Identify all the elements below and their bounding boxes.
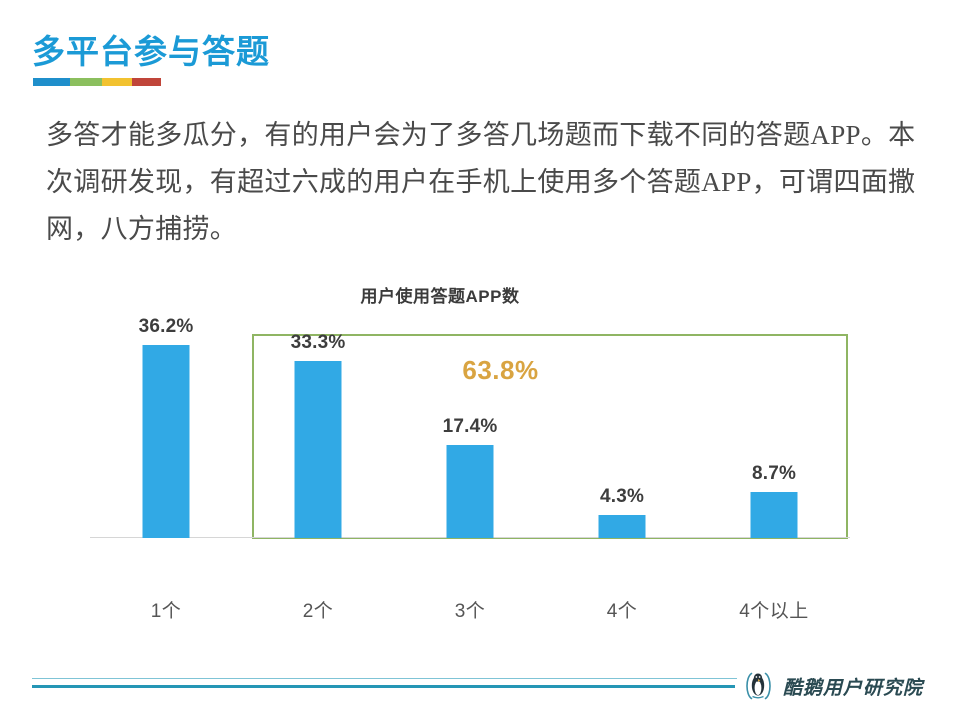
bar-slot: 36.2%	[90, 325, 242, 538]
bar-1个[interactable]	[143, 345, 190, 538]
bar-slot: 33.3%	[242, 325, 394, 538]
bar-value-label: 36.2%	[139, 316, 194, 338]
rule-segment-red	[132, 78, 161, 86]
penguin-logo-icon	[742, 669, 774, 703]
rule-segment-green	[70, 78, 102, 86]
category-label-3个: 3个	[394, 596, 546, 623]
bar-value-label: 8.7%	[752, 463, 796, 485]
title-underline-rule	[33, 78, 161, 86]
bar-value-label: 33.3%	[291, 332, 346, 354]
bar-value-label: 4.3%	[600, 486, 644, 508]
category-labels-row: 1个2个3个4个4个以上	[90, 583, 850, 629]
bar-4个[interactable]	[599, 515, 646, 538]
footer-rule-thin	[32, 678, 737, 679]
category-label-4个: 4个	[546, 596, 698, 623]
category-label-2个: 2个	[242, 596, 394, 623]
category-label-1个: 1个	[90, 596, 242, 623]
rule-segment-blue	[33, 78, 70, 86]
bar-3个[interactable]	[447, 445, 494, 538]
bar-value-label: 17.4%	[443, 416, 498, 438]
chart-title: 用户使用答题APP数	[0, 282, 880, 307]
bar-4个以上[interactable]	[751, 492, 798, 538]
footer-brand: 酷鹅用户研究院	[742, 666, 923, 706]
category-label-4个以上: 4个以上	[698, 596, 850, 623]
brand-name: 酷鹅用户研究院	[783, 673, 923, 700]
bar-chart: 用户使用答题APP数 36.2%33.3%17.4%4.3%8.7% 63.8%…	[0, 270, 960, 640]
body-paragraph: 多答才能多瓜分，有的用户会为了多答几场题而下载不同的答题APP。本次调研发现，有…	[46, 112, 926, 253]
bar-slot: 8.7%	[698, 325, 850, 538]
highlight-annotation-label: 63.8%	[462, 355, 538, 386]
slide-canvas: 多平台参与答题 多答才能多瓜分，有的用户会为了多答几场题而下载不同的答题APP。…	[0, 0, 960, 720]
footer-rule-thick	[32, 685, 735, 688]
page-title: 多平台参与答题	[32, 30, 270, 74]
chart-plot-area: 36.2%33.3%17.4%4.3%8.7% 63.8%	[90, 325, 850, 583]
rule-segment-yellow	[102, 78, 131, 86]
bar-2个[interactable]	[295, 361, 342, 538]
bar-slot: 4.3%	[546, 325, 698, 538]
